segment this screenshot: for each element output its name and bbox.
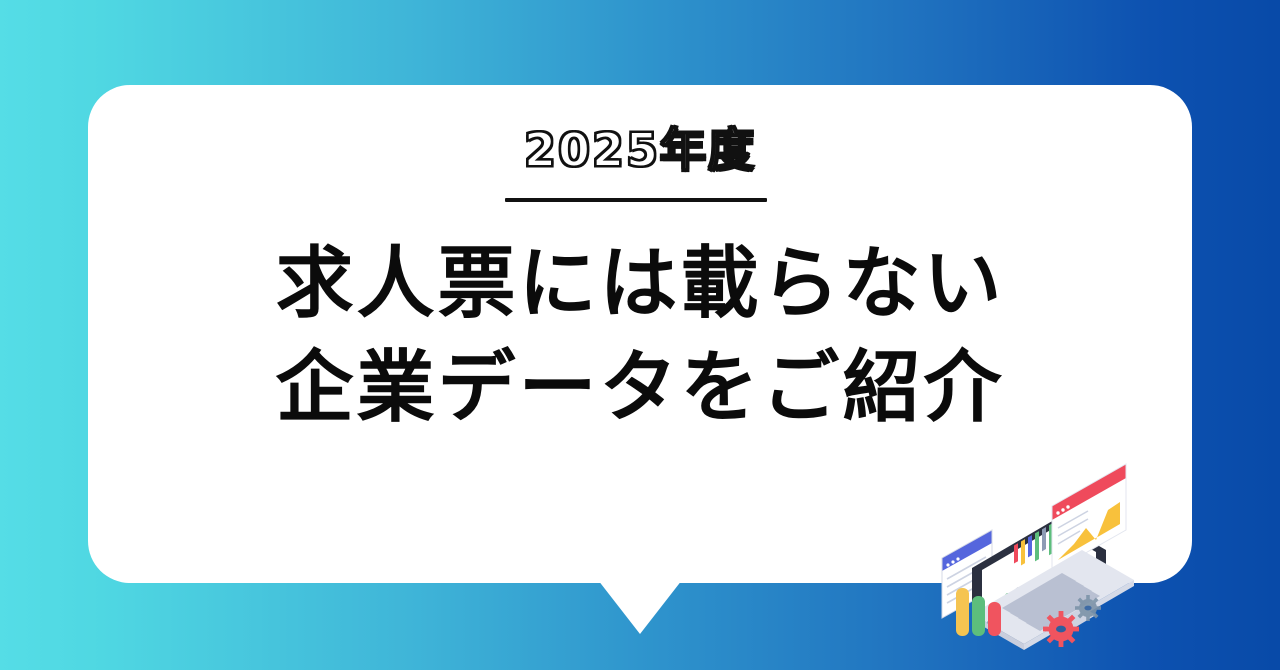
page-title: 求人票には載らない 企業データをご紹介 (0, 232, 1280, 440)
laptop-dashboard-illustration (930, 448, 1162, 670)
headline-line-1: 求人票には載らない (0, 232, 1280, 336)
eyebrow-block: 2025年度 (0, 126, 1280, 174)
year-label: 2025年度 (524, 126, 756, 174)
gear-red-icon (1043, 611, 1079, 647)
eyebrow-underline (505, 198, 767, 202)
promo-banner: 2025年度 求人票には載らない 企業データをご紹介 (0, 0, 1280, 670)
speech-bubble-tail (598, 580, 682, 634)
headline-line-2: 企業データをご紹介 (0, 336, 1280, 440)
gear-slate-icon (1075, 595, 1101, 621)
